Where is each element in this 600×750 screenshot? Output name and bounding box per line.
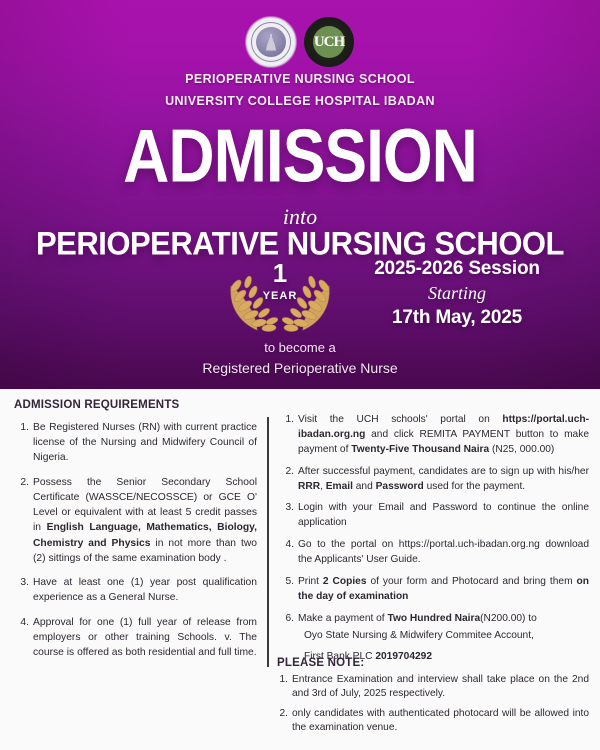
application-step-item: 5.Print 2 Copies of your form and Photoc… — [281, 575, 589, 605]
requirement-item: 3.Have at least one (1) year post qualif… — [14, 575, 257, 605]
list-marker: 1. — [281, 413, 294, 428]
body-text: and — [353, 481, 376, 492]
requirement-item: 2.Possess the Senior Secondary School Ce… — [14, 475, 257, 566]
body-text: Have at least one (1) year post qualific… — [33, 577, 257, 603]
institution-line-2: UNIVERSITY COLLEGE HOSPITAL IBADAN — [0, 94, 600, 108]
session-block: 2025-2026 Session Starting 17th May, 202… — [342, 258, 572, 329]
emphasis-text: Twenty-Five Thousand Naira — [351, 444, 489, 455]
requirement-item: 4.Approval for one (1) full year of rele… — [14, 615, 257, 661]
institution-line-1: PERIOPERATIVE NURSING SCHOOL — [0, 72, 600, 86]
list-marker: 5. — [281, 575, 294, 590]
list-marker: 1. — [277, 673, 288, 687]
body-text: Go to the portal on https://portal.uch-i… — [298, 539, 589, 565]
list-marker: 4. — [281, 538, 294, 553]
list-marker: 2. — [14, 475, 29, 490]
badge-number: 1 — [215, 260, 345, 286]
please-note-item: 2.only candidates with authenticated pho… — [277, 707, 589, 736]
emphasis-text: Two Hundred Naira — [387, 613, 480, 624]
emphasis-text: RRR — [298, 481, 320, 492]
starting-label: Starting — [342, 283, 572, 304]
body-text: Entrance Examination and interview shall… — [292, 674, 589, 699]
column-divider — [267, 417, 269, 667]
list-marker: 2. — [277, 707, 288, 721]
body-text: Make a payment of — [298, 613, 387, 624]
requirement-item: 1.Be Registered Nurses (RN) with current… — [14, 420, 257, 466]
please-note-block: PLEASE NOTE: 1.Entrance Examination and … — [277, 657, 589, 741]
application-steps-list: 1.Visit the UCH schools' portal on https… — [281, 413, 589, 664]
requirements-list: 1.Be Registered Nurses (RN) with current… — [14, 420, 257, 660]
body-text: only candidates with authenticated photo… — [292, 708, 589, 733]
list-marker: 4. — [14, 615, 29, 630]
application-step-item: 3.Login with your Email and Password to … — [281, 501, 589, 531]
body-text: (N200.00) to — [480, 613, 537, 624]
start-date: 17th May, 2025 — [342, 307, 572, 329]
requirements-column: ADMISSION REQUIREMENTS 1.Be Registered N… — [14, 399, 257, 669]
logo-row: UCH — [0, 17, 600, 67]
requirements-title: ADMISSION REQUIREMENTS — [14, 399, 257, 411]
body-text: After successful payment, candidates are… — [298, 466, 589, 477]
become-line-2: Registered Perioperative Nurse — [0, 360, 600, 376]
poster-body: ADMISSION REQUIREMENTS 1.Be Registered N… — [0, 389, 600, 750]
please-note-list: 1.Entrance Examination and interview sha… — [277, 673, 589, 736]
uch-ibadan-logo-icon: UCH — [304, 17, 354, 67]
body-text: Visit the UCH schools' portal on — [298, 414, 502, 425]
badge-unit: YEAR — [215, 290, 345, 302]
poster-hero: UCH PERIOPERATIVE NURSING SCHOOL UNIVERS… — [0, 0, 600, 389]
application-step-item: 4.Go to the portal on https://portal.uch… — [281, 538, 589, 568]
list-marker: 1. — [14, 420, 29, 435]
list-marker: 2. — [281, 465, 294, 480]
admission-poster: UCH PERIOPERATIVE NURSING SCHOOL UNIVERS… — [0, 0, 600, 750]
institution-block: PERIOPERATIVE NURSING SCHOOL UNIVERSITY … — [0, 72, 600, 108]
body-text: Print — [298, 576, 323, 587]
body-text: used for the payment. — [424, 481, 525, 492]
emphasis-text: Email — [326, 481, 353, 492]
body-text: of your form and Photocard and bring the… — [367, 576, 577, 587]
perioperative-nursing-school-seal-icon — [246, 17, 296, 67]
body-text: (N25, 000.00) — [489, 444, 554, 455]
list-marker: 3. — [281, 501, 294, 516]
body-text: Be Registered Nurses (RN) with current p… — [33, 422, 257, 463]
emphasis-text: Password — [376, 481, 424, 492]
uch-logo-inner: UCH — [313, 26, 345, 58]
please-note-item: 1.Entrance Examination and interview sha… — [277, 673, 589, 702]
list-marker: 6. — [281, 612, 294, 627]
application-step-item: 2.After successful payment, candidates a… — [281, 465, 589, 495]
application-step-item: 1.Visit the UCH schools' portal on https… — [281, 413, 589, 458]
become-line-1: to become a — [0, 340, 600, 355]
body-text: Login with your Email and Password to co… — [298, 502, 589, 528]
application-steps-column: 1.Visit the UCH schools' portal on https… — [281, 413, 589, 671]
please-note-title: PLEASE NOTE: — [277, 657, 589, 669]
duration-badge: 1 YEAR — [215, 258, 345, 343]
page-title: ADMISSION — [0, 118, 600, 194]
session-text: 2025-2026 Session — [342, 258, 572, 280]
body-text: Approval for one (1) full year of releas… — [33, 617, 257, 658]
sub-line: Oyo State Nursing & Midwifery Commitee A… — [298, 629, 589, 644]
list-marker: 3. — [14, 575, 29, 590]
emphasis-text: 2 Copies — [323, 576, 367, 587]
uch-monogram: UCH — [314, 35, 344, 50]
